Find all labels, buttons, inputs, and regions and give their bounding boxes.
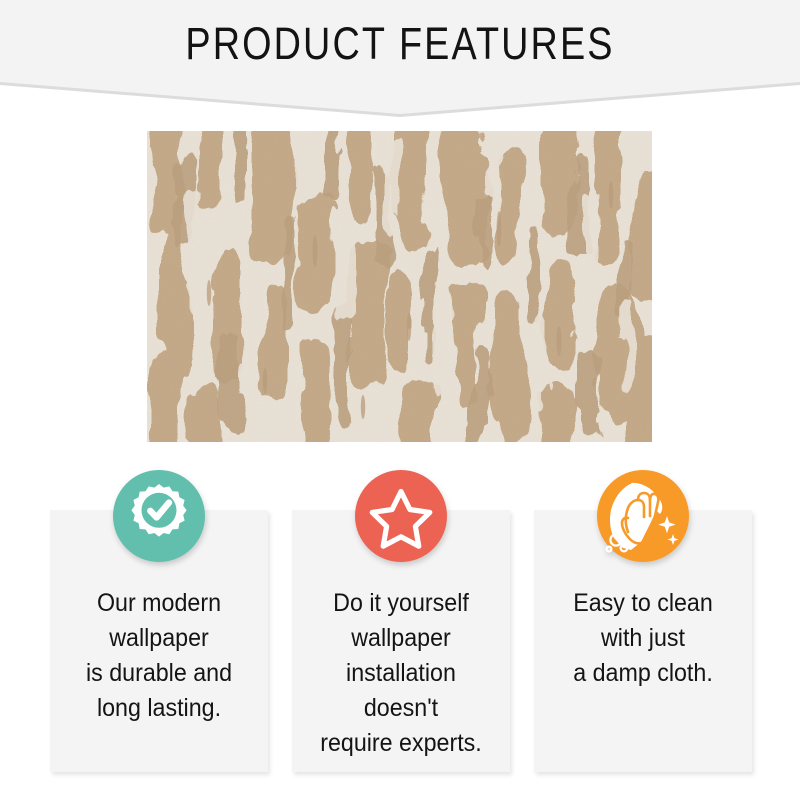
page-title: PRODUCT FEATURES xyxy=(64,18,736,70)
feature-text: Our modern wallpaper is durable and long… xyxy=(58,586,261,726)
feature-card-durability: Our modern wallpaper is durable and long… xyxy=(50,510,268,772)
hand-wiping-cloth-icon xyxy=(597,470,689,562)
verified-badge-check-icon xyxy=(113,470,205,562)
feature-card-easy-clean: Easy to clean with just a damp cloth. xyxy=(534,510,752,772)
feature-card-diy-installation: Do it yourself wallpaper installation do… xyxy=(292,510,510,772)
product-image xyxy=(147,131,652,442)
star-outline-icon xyxy=(355,470,447,562)
feature-text: Do it yourself wallpaper installation do… xyxy=(300,586,503,761)
feature-text: Easy to clean with just a damp cloth. xyxy=(542,586,745,691)
